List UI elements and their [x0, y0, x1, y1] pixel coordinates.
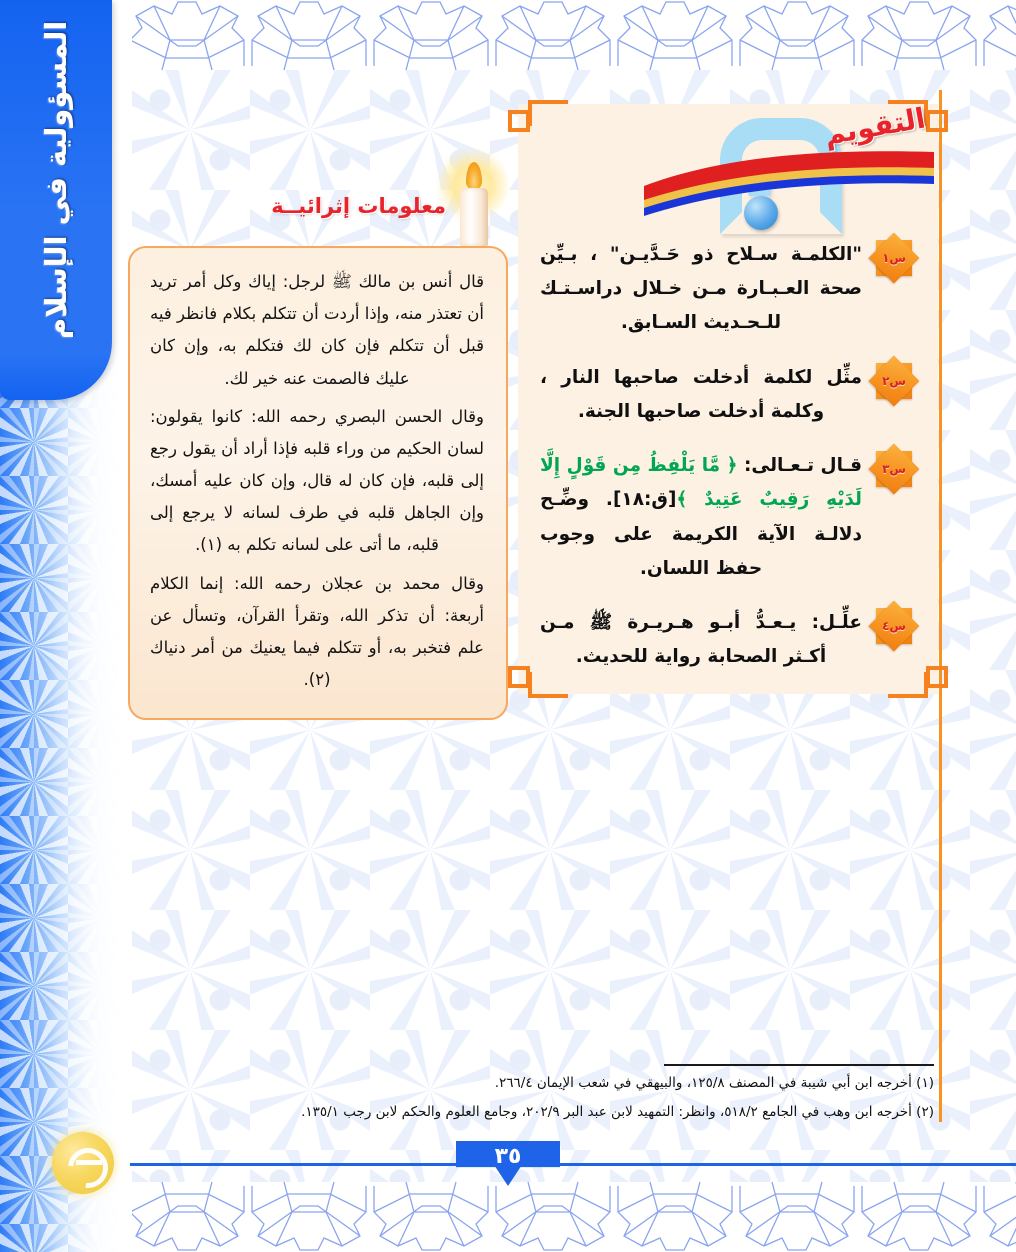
- evaluation-header: التقويم: [518, 104, 938, 234]
- question-badge-label: س٢: [876, 363, 912, 399]
- footnote-item: (٢) أخرجه ابن وهب في الجامع ٥١٨/٢، وانظر…: [274, 1101, 934, 1125]
- enrichment-body: قال أنس بن مالك ﷺ لرجل: إياك وكل أمر تري…: [128, 246, 508, 720]
- question-badge-label: س٣: [876, 451, 912, 487]
- footnotes-section: (١) أخرجه ابن أبي شيبة في المصنف ١٢٥/٨، …: [274, 1064, 934, 1129]
- question-badge-icon: س٣: [876, 451, 912, 487]
- candle-icon: [452, 154, 496, 246]
- enrichment-paragraph: قال أنس بن مالك ﷺ لرجل: إياك وكل أمر تري…: [150, 266, 484, 395]
- question-text: مثِّل لكلمة أدخلت صاحبها النار ، وكلمة أ…: [540, 361, 862, 429]
- footnote-item: (١) أخرجه ابن أبي شيبة في المصنف ١٢٥/٨، …: [274, 1072, 934, 1096]
- left-decorative-sidebar: المسؤولية في الإسلام: [0, 0, 132, 1252]
- question-badge-icon: س١: [876, 240, 912, 276]
- enrichment-paragraph: وقال الحسن البصري رحمه الله: كانوا يقولو…: [150, 401, 484, 562]
- footnote-divider: [664, 1064, 934, 1066]
- question-text: علِّـل: يـعـدُّ أبـو هـريـرة ﷺ مـن أكـثر…: [540, 606, 862, 674]
- evaluation-panel: التقويم س١ "الكلمـة سـلاح ذو حَـدَّيـن" …: [518, 104, 938, 694]
- title-ribbon: [644, 142, 934, 220]
- chapter-title: المسؤولية في الإسلام: [0, 0, 112, 360]
- enrichment-header: معلومات إثرائيــة: [128, 150, 508, 246]
- verse-reference: [ق:١٨].: [606, 489, 676, 510]
- enrichment-paragraph: وقال محمد بن عجلان رحمه الله: إنما الكلا…: [150, 568, 484, 697]
- page-number-rule: [130, 1163, 1016, 1166]
- question-text: قـال تـعـالى: ﴿ مَّا يَلْفِظُ مِن قَوْلٍ…: [540, 449, 862, 586]
- textbook-page: المسؤولية في الإسلام التقويم: [0, 0, 1016, 1252]
- question-badge-icon: س٤: [876, 608, 912, 644]
- question-badge-icon: س٢: [876, 363, 912, 399]
- question-item: س٣ قـال تـعـالى: ﴿ مَّا يَلْفِظُ مِن قَو…: [540, 449, 912, 586]
- question-prefix: قـال تـعـالى:: [744, 455, 862, 476]
- page-number: ٣٥: [456, 1141, 560, 1186]
- enrichment-title: معلومات إثرائيــة: [271, 194, 446, 218]
- question-badge-label: س٤: [876, 608, 912, 644]
- book-logo-icon: [52, 1132, 114, 1194]
- question-list: س١ "الكلمـة سـلاح ذو حَـدَّيـن" ، بـيِّن…: [518, 234, 938, 674]
- question-item: س٤ علِّـل: يـعـدُّ أبـو هـريـرة ﷺ مـن أك…: [540, 606, 912, 674]
- question-item: س١ "الكلمـة سـلاح ذو حَـدَّيـن" ، بـيِّن…: [540, 238, 912, 341]
- enrichment-panel: معلومات إثرائيــة قال أنس بن مالك ﷺ لرجل…: [128, 150, 508, 720]
- top-ornament-border: [130, 0, 1016, 72]
- question-item: س٢ مثِّل لكلمة أدخلت صاحبها النار ، وكلم…: [540, 361, 912, 429]
- bottom-ornament-border: [130, 1180, 1016, 1252]
- question-text: "الكلمـة سـلاح ذو حَـدَّيـن" ، بـيِّن صح…: [540, 238, 862, 341]
- question-badge-label: س١: [876, 240, 912, 276]
- orange-vertical-rule: [939, 90, 942, 1122]
